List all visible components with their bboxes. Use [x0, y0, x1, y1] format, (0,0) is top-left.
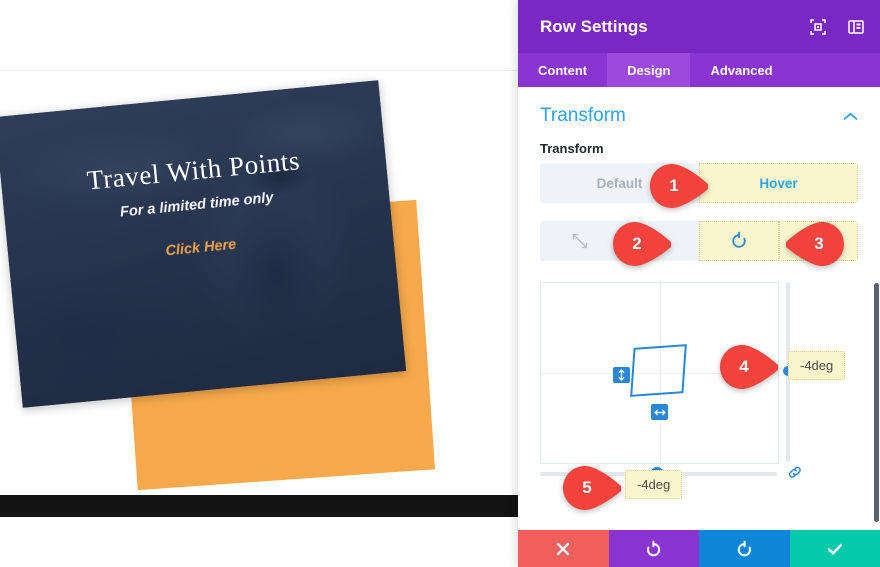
save-button[interactable] — [790, 530, 880, 567]
focus-target-icon[interactable] — [810, 19, 826, 35]
section-title: Transform — [540, 105, 626, 127]
callout-marker-4: 4 — [720, 345, 778, 389]
hero-row[interactable]: Travel With Points For a limited time on… — [0, 80, 406, 408]
tab-design[interactable]: Design — [607, 53, 690, 87]
teardrop-right-shape — [720, 345, 778, 389]
close-icon — [555, 541, 571, 557]
callout-number-5: 5 — [582, 478, 591, 498]
check-icon — [826, 541, 844, 557]
layout-panel-icon[interactable] — [848, 19, 864, 35]
arrows-vertical-icon — [616, 369, 627, 381]
scrollbar-thumb[interactable] — [874, 283, 879, 522]
transform-section-header[interactable]: Transform — [518, 87, 880, 131]
transform-mode-rotate-button[interactable] — [699, 221, 779, 261]
cancel-button[interactable] — [518, 530, 609, 567]
callout-marker-5: 5 — [563, 466, 621, 510]
page-scrollbar[interactable] — [873, 0, 880, 567]
teardrop-right-shape — [613, 222, 671, 266]
link-chain-icon[interactable] — [786, 464, 804, 480]
callout-marker-3: 3 — [786, 222, 844, 266]
panel-header: Row Settings — [518, 0, 880, 53]
tab-content[interactable]: Content — [518, 53, 607, 87]
callout-marker-1: 1 — [650, 164, 708, 208]
panel-title: Row Settings — [540, 17, 648, 37]
skew-y-handle[interactable] — [613, 367, 630, 383]
rotate-icon — [729, 231, 749, 251]
callout-number-1: 1 — [669, 176, 678, 196]
tab-advanced[interactable]: Advanced — [690, 53, 792, 87]
transform-field-label: Transform — [518, 131, 880, 163]
undo-button[interactable] — [609, 530, 700, 567]
redo-icon — [735, 540, 753, 558]
state-hover-button[interactable]: Hover — [699, 163, 858, 203]
panel-body: Transform Transform Default Hover — [518, 87, 880, 530]
chevron-up-icon[interactable] — [843, 112, 858, 121]
teardrop-right-shape — [563, 466, 621, 510]
skew-x-handle[interactable] — [651, 404, 668, 420]
panel-header-icons — [810, 0, 864, 53]
panel-action-bar — [518, 530, 880, 567]
skew-x-value-badge: -4deg — [625, 470, 682, 499]
callout-marker-2: 2 — [613, 222, 671, 266]
teardrop-right-shape — [650, 164, 708, 208]
callout-number-2: 2 — [632, 234, 641, 254]
transform-mode-scale-button[interactable] — [540, 221, 620, 261]
skew-y-value-badge: -4deg — [788, 351, 845, 380]
website-preview: Travel With Points For a limited time on… — [0, 0, 520, 567]
callout-number-3: 3 — [814, 234, 823, 254]
hero-stage: Travel With Points For a limited time on… — [0, 70, 520, 517]
panel-tabs: Content Design Advanced — [518, 53, 880, 87]
skew-preview-shape[interactable] — [630, 344, 687, 397]
arrows-horizontal-icon — [654, 407, 666, 418]
redo-button[interactable] — [699, 530, 790, 567]
callout-number-4: 4 — [739, 357, 748, 377]
scale-icon — [571, 232, 589, 250]
undo-icon — [645, 540, 663, 558]
site-footer: rdPress — [0, 495, 520, 517]
